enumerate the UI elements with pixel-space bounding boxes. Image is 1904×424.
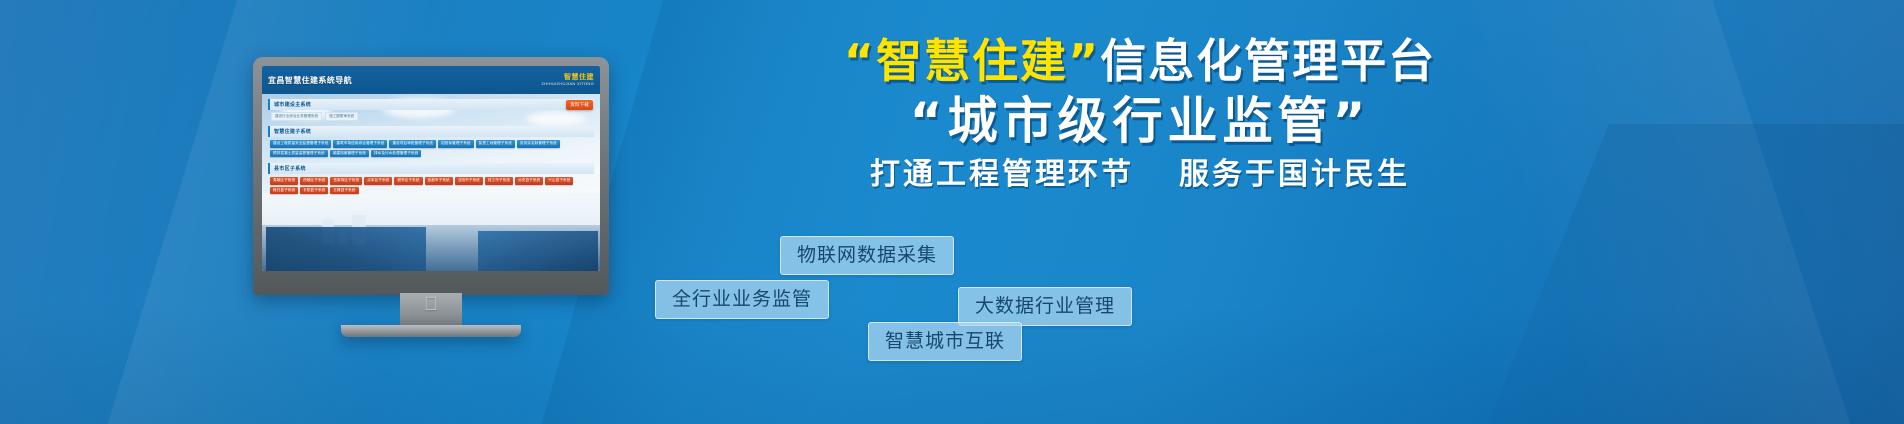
monitor-screen: 宜昌智慧住建系统导航 智慧住建 ZHIHUIZHUJIAN XITONG (262, 66, 600, 271)
screen-header-title: 宜昌智慧住建系统导航 (268, 75, 352, 86)
screen-nav-chip[interactable]: 建设工程质量安全监督管理子系统 (270, 140, 331, 148)
screen-nav-chip[interactable]: 夷陵区子系统 (270, 177, 298, 185)
screen-section: 城市建设主系统 建设行业综合业务管理系统 施工图联审系统 (268, 99, 594, 123)
screen-body: 资料下载 城市建设主系统 建设行业综合业务管理系统 施工图联审系统 智慧住建子系… (262, 94, 600, 271)
screen-nav-chip[interactable]: 枝江市子系统 (485, 177, 513, 185)
screen-nav-chip[interactable]: 建设项目审批管理子系统 (389, 140, 436, 148)
screen-nav-chip[interactable]: 当阳市子系统 (455, 177, 483, 185)
screen-nav-item[interactable]: 施工图联审系统 (325, 112, 358, 121)
tagline-part-2: 服务于国计民生 (1179, 157, 1410, 192)
headline-tagline: 打通工程管理环节 服务于国计民生 (640, 160, 1640, 190)
screen-section-items: 建设工程质量安全监督管理子系统 建筑市场信用综合管理子系统 建设项目审批管理子系… (268, 137, 594, 160)
screen-nav-chip[interactable]: 兴山县子系统 (545, 177, 573, 185)
screen-nav-chip[interactable]: 猇亭区子系统 (394, 177, 422, 185)
screen-section: 智慧住建子系统 建设工程质量安全监督管理子系统 建筑市场信用综合管理子系统 建设… (268, 126, 594, 160)
screen-nav-chip[interactable]: 伍家岗区子系统 (330, 177, 362, 185)
screen-nav-chip[interactable]: 宜都市子系统 (425, 177, 453, 185)
screen-nav-chip[interactable]: 秭归县子系统 (270, 187, 298, 195)
screen-nav-content: 资料下载 城市建设主系统 建设行业综合业务管理系统 施工图联审系统 智慧住建子系… (262, 94, 600, 271)
screen-nav-chip[interactable]: 建筑市场信用综合管理子系统 (333, 140, 387, 148)
screen-section: 县市区子系统 夷陵区子系统 西陵区子系统 伍家岗区子系统 点军区子系统 猇亭区子… (268, 163, 594, 197)
feature-tag-industry-wide-supervision[interactable]: 全行业业务监管 (655, 280, 829, 319)
monitor-bezel: 宜昌智慧住建系统导航 智慧住建 ZHIHUIZHUJIAN XITONG (253, 57, 609, 295)
headline-primary-rest: 信息化管理平台 (1100, 34, 1436, 88)
screen-nav-chip[interactable]: 预拌混凝土质量监督管理子系统 (270, 150, 328, 158)
screen-nav-chip[interactable]: 长阳县子系统 (300, 187, 328, 195)
headline-primary-highlight: “智慧住建” (844, 34, 1100, 88)
screen-nav-chip[interactable]: 排水及污水处理管理子系统 (371, 150, 421, 158)
headline-block: “智慧住建”信息化管理平台 “城市级行业监管” 打通工程管理环节 服务于国计民生 (640, 38, 1640, 190)
feature-tag-group: 物联网数据采集 大数据行业管理 全行业业务监管 智慧城市互联 (640, 232, 1650, 362)
monitor-illustration: 宜昌智慧住建系统导航 智慧住建 ZHIHUIZHUJIAN XITONG (253, 57, 609, 305)
screen-nav-chip[interactable]: 城建档案管理子系统 (330, 150, 369, 158)
screen-section-title: 智慧住建子系统 (268, 126, 594, 137)
headline-primary: “智慧住建”信息化管理平台 (640, 38, 1640, 84)
promo-banner: 宜昌智慧住建系统导航 智慧住建 ZHIHUIZHUJIAN XITONG (0, 0, 1904, 424)
screen-logo: 智慧住建 ZHIHUIZHUJIAN XITONG (541, 74, 594, 86)
apple-logo-icon:  (424, 295, 438, 314)
screen-nav-chip[interactable]: 劳务实名制管理子系统 (517, 140, 560, 148)
screen-nav-item[interactable]: 建设行业综合业务管理系统 (271, 112, 322, 121)
screen-nav-chip[interactable]: 五峰县子系统 (330, 187, 358, 195)
feature-tag-bigdata-industry-management[interactable]: 大数据行业管理 (958, 287, 1132, 326)
feature-tag-iot-data-collection[interactable]: 物联网数据采集 (780, 236, 954, 275)
screen-nav-chip[interactable]: 西陵区子系统 (300, 177, 328, 185)
screen-header-bar: 宜昌智慧住建系统导航 智慧住建 ZHIHUIZHUJIAN XITONG (262, 66, 600, 94)
screen-logo-pinyin: ZHIHUIZHUJIAN XITONG (541, 82, 594, 86)
screen-section-title: 县市区子系统 (268, 163, 594, 174)
screen-nav-chip[interactable]: 远安县子系统 (515, 177, 543, 185)
headline-secondary: “城市级行业监管” (640, 96, 1640, 146)
screen-nav-chip[interactable]: 点军区子系统 (364, 177, 392, 185)
screen-section-title: 城市建设主系统 (268, 99, 594, 110)
screen-nav-chip[interactable]: 招投标管理子系统 (438, 140, 474, 148)
screen-download-button[interactable]: 资料下载 (566, 100, 593, 110)
feature-tag-smart-city-interconnect[interactable]: 智慧城市互联 (868, 322, 1022, 361)
screen-logo-chinese: 智慧住建 (564, 74, 594, 81)
screen-section-items: 夷陵区子系统 西陵区子系统 伍家岗区子系统 点军区子系统 猇亭区子系统 宜都市子… (268, 174, 594, 197)
monitor-stand-base (341, 325, 521, 337)
tagline-part-1: 打通工程管理环节 (870, 157, 1134, 192)
screen-nav-chip[interactable]: 智慧工地管理子系统 (476, 140, 515, 148)
screen-section-items: 建设行业综合业务管理系统 施工图联审系统 (268, 110, 594, 123)
